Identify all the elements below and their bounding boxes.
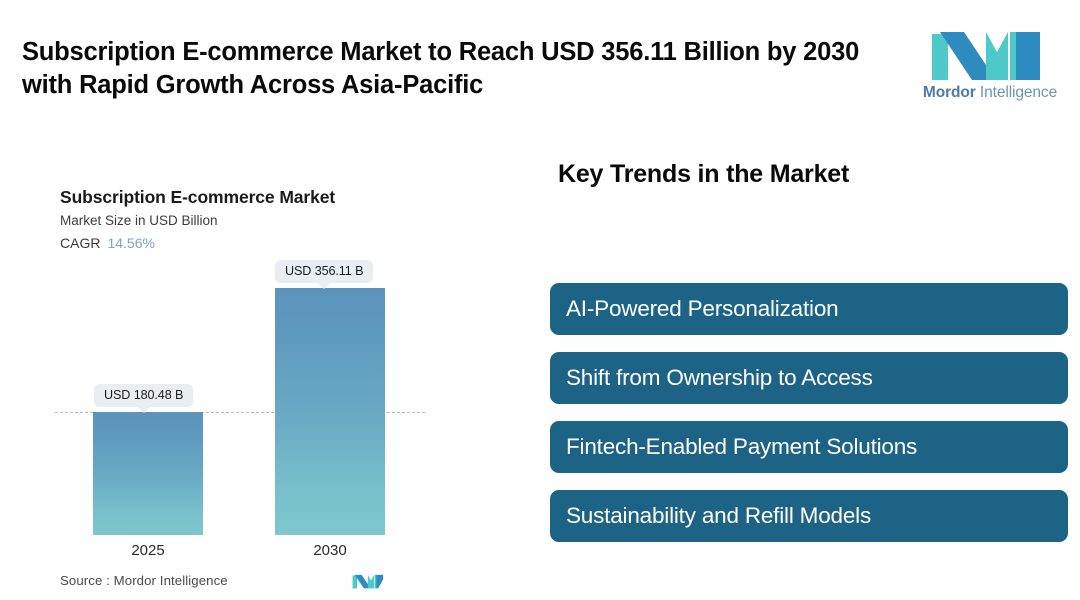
trend-list: AI-Powered Personalization Shift from Ow… (550, 283, 1068, 559)
bar-2030[interactable] (275, 288, 385, 535)
chart-source: Source : Mordor Intelligence (60, 573, 228, 588)
trend-card-label: Sustainability and Refill Models (566, 503, 871, 529)
bar-label-2025: USD 180.48 B (94, 384, 193, 407)
source-mordor-intelligence-mark-icon (352, 571, 386, 590)
brand-name-regular: Intelligence (980, 84, 1057, 101)
trends-panel: Key Trends in the Market AI-Powered Pers… (550, 125, 1080, 600)
brand-name-bold: Mordor (923, 84, 976, 101)
bar-label-2030: USD 356.11 B (275, 260, 373, 283)
trend-card-2[interactable]: Shift from Ownership to Access (550, 352, 1068, 404)
x-axis-label-2025: 2025 (93, 542, 203, 559)
header: Subscription E-commerce Market to Reach … (0, 0, 1080, 125)
trend-card-label: AI-Powered Personalization (566, 296, 838, 322)
trend-card-3[interactable]: Fintech-Enabled Payment Solutions (550, 421, 1068, 473)
mordor-intelligence-mark-icon (930, 22, 1050, 82)
x-axis-label-2030: 2030 (275, 542, 385, 559)
trend-card-4[interactable]: Sustainability and Refill Models (550, 490, 1068, 542)
brand-wordmark: Mordor Intelligence (912, 84, 1068, 102)
page-title: Subscription E-commerce Market to Reach … (22, 36, 882, 102)
chart-plot-area: USD 180.48 B 2025 USD 356.11 B 2030 (0, 125, 520, 600)
trends-heading: Key Trends in the Market (558, 160, 849, 189)
trend-card-1[interactable]: AI-Powered Personalization (550, 283, 1068, 335)
bar-2025[interactable] (93, 412, 203, 535)
trend-card-label: Fintech-Enabled Payment Solutions (566, 434, 917, 460)
trend-card-label: Shift from Ownership to Access (566, 365, 873, 391)
chart-panel: Subscription E-commerce Market Market Si… (0, 125, 520, 600)
brand-logo: Mordor Intelligence (912, 22, 1068, 110)
